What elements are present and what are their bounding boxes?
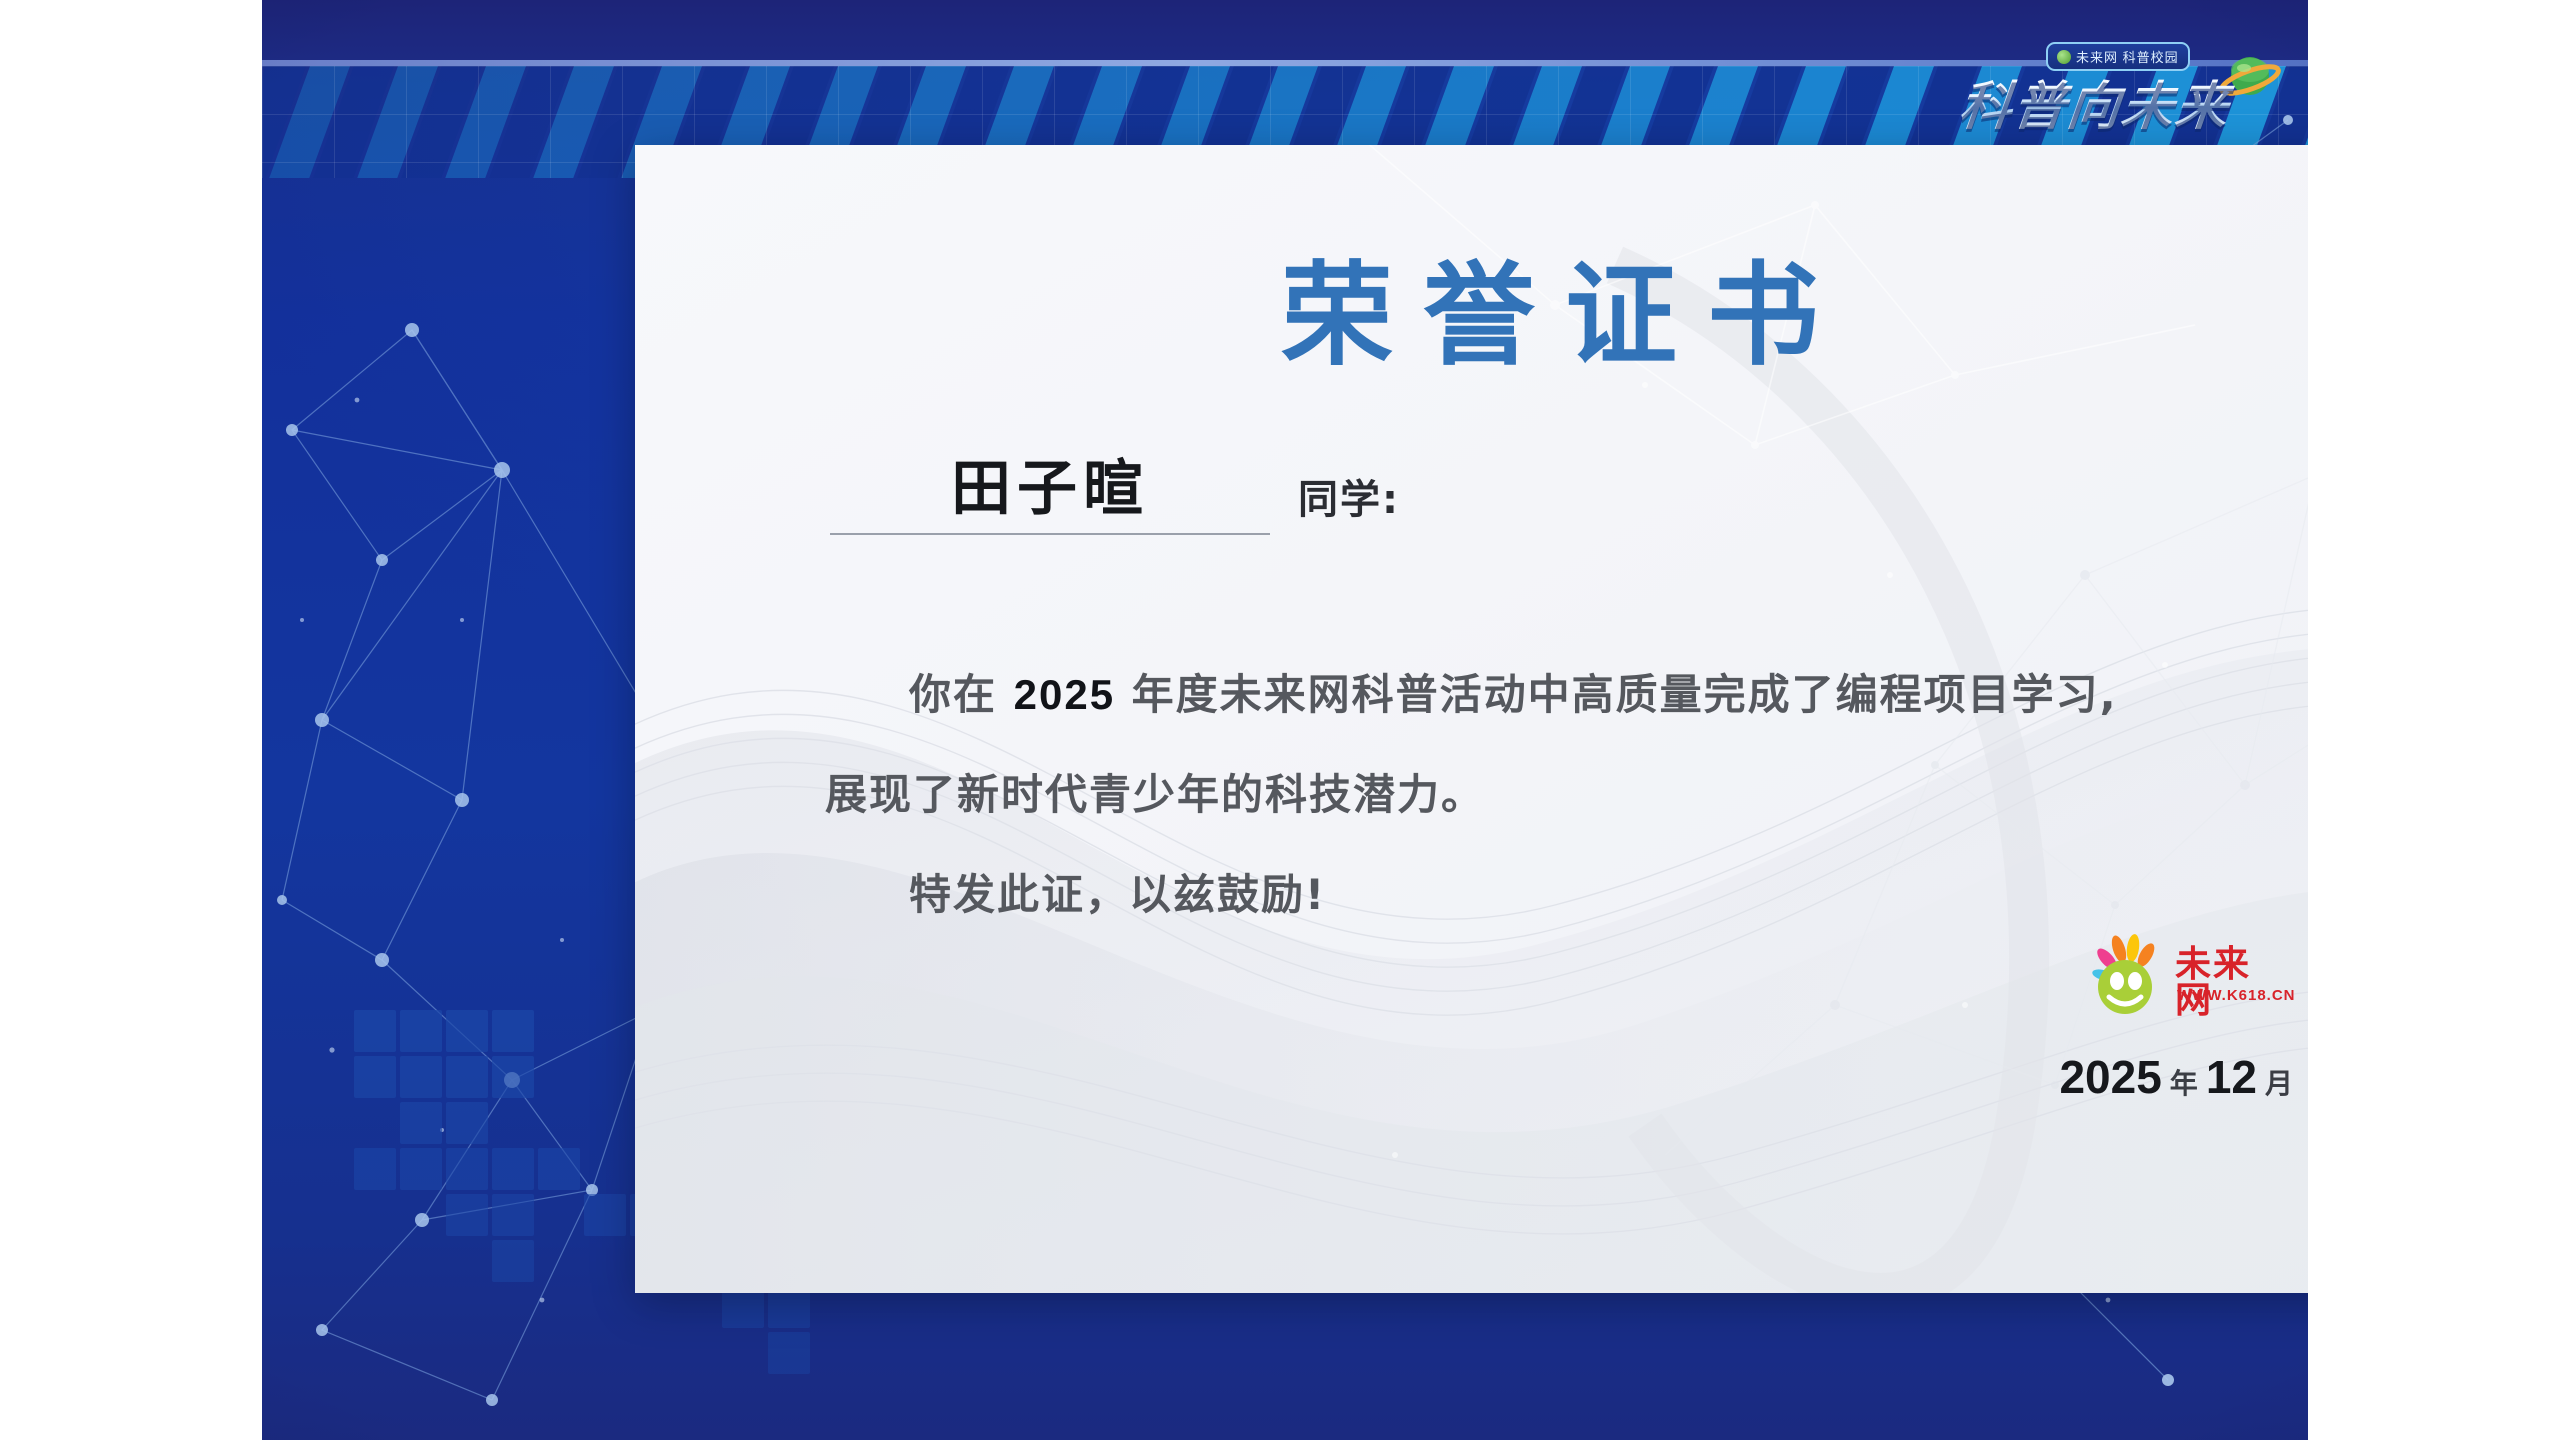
mosaic-pixel [492, 1148, 534, 1190]
body-line-2: 展现了新时代青少年的科技潜力。 [825, 745, 2308, 845]
certificate-screenshot: 未来网 科普校园 科普向未来 [0, 0, 2560, 1440]
mosaic-pixel [400, 1056, 442, 1098]
poster-background: 未来网 科普校园 科普向未来 [262, 0, 2308, 1440]
page-title: 荣誉证书 [635, 260, 2308, 372]
recipient-name: 田子暄 [951, 454, 1149, 524]
body-year: 2025 [1014, 671, 1115, 718]
issue-year-unit: 年 [2170, 1062, 2198, 1102]
mosaic-pixel [354, 1056, 396, 1098]
mosaic-pixel [446, 1148, 488, 1190]
badge-dot-icon [2057, 50, 2071, 64]
issue-month: 12 [2206, 1050, 2257, 1104]
mosaic-pixel [768, 1332, 810, 1374]
mosaic-pixel [354, 1010, 396, 1052]
mosaic-pixel [354, 1148, 396, 1190]
mosaic-pixel [538, 1148, 580, 1190]
mosaic-pixel [492, 1010, 534, 1052]
mosaic-pixel [400, 1102, 442, 1144]
mosaic-pixel [446, 1102, 488, 1144]
recipient-suffix: 同学: [1298, 467, 1400, 535]
issuer-url: WWW.K618.CN [2177, 987, 2296, 1004]
mosaic-pixel [446, 1010, 488, 1052]
mosaic-pixel [400, 1010, 442, 1052]
badge-title: 科普向未来 [1956, 64, 2264, 139]
mosaic-pixel [492, 1056, 534, 1098]
body-line-1: 你在 2025 年度未来网科普活动中高质量完成了编程项目学习, [825, 645, 2308, 745]
issue-year: 2025 [2059, 1050, 2161, 1104]
mosaic-pixel [492, 1240, 534, 1282]
body-line1-part-b: 年度未来网科普活动中高质量完成了编程项目学习, [1115, 670, 2118, 719]
mosaic-pixel [446, 1056, 488, 1098]
mosaic-pixel [584, 1194, 626, 1236]
issuer-logo: 未来网 WWW.K618.CN [2085, 925, 2285, 1025]
issue-month-unit: 月 [2265, 1062, 2293, 1102]
mosaic-pixel [400, 1148, 442, 1190]
mosaic-pixel [492, 1194, 534, 1236]
recipient-row: 田子暄 同学: [830, 440, 1400, 535]
body-line1-part-a: 你在 [909, 670, 1014, 719]
issuer-name: 未来网 [2175, 947, 2285, 1019]
certificate-body: 你在 2025 年度未来网科普活动中高质量完成了编程项目学习, 展现了新时代青少… [825, 645, 2308, 945]
certificate-card: 荣誉证书 田子暄 同学: 你在 2025 年度未来网科普活动中高质量完成了编程项… [635, 145, 2308, 1293]
recipient-name-field[interactable]: 田子暄 [830, 440, 1270, 535]
mosaic-pixel [446, 1194, 488, 1236]
issue-date: 2025 年 12 月 [2059, 1050, 2293, 1104]
